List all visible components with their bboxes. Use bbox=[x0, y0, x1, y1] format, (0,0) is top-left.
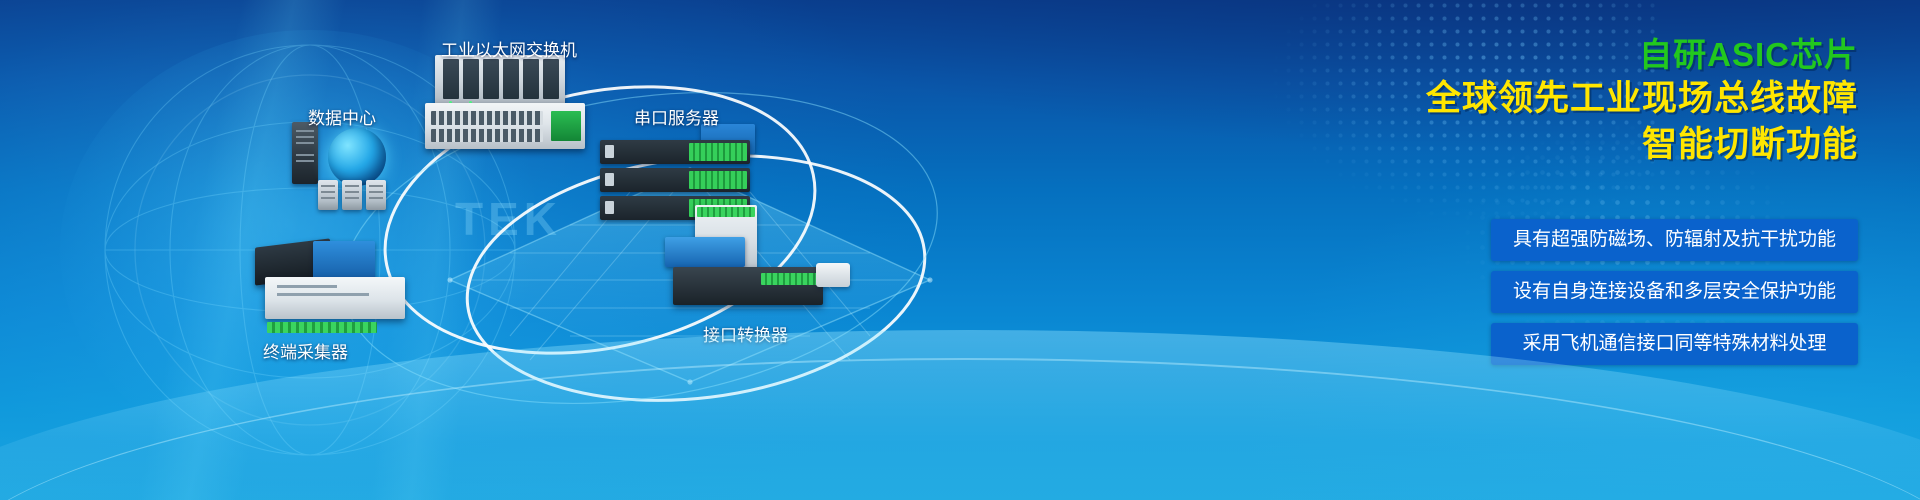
switch-module bbox=[523, 59, 539, 99]
headline-line-2: 全球领先工业现场总线故障 bbox=[1238, 76, 1858, 122]
terminal-block bbox=[689, 143, 747, 161]
bottom-arc-line bbox=[0, 358, 1920, 500]
switch-port-row bbox=[431, 129, 543, 142]
product-banner: TEK 工业以太网交换机 bbox=[0, 0, 1920, 500]
collector-white-unit bbox=[265, 277, 405, 319]
switch-terminal-block bbox=[551, 111, 581, 141]
terminal-block bbox=[697, 207, 755, 217]
device-interface-converter bbox=[665, 205, 850, 330]
label-serial-server: 串口服务器 bbox=[634, 104, 719, 129]
collector-terminal-block bbox=[267, 322, 377, 333]
feature-list: 具有超强防磁场、防辐射及抗干扰功能 设有自身连接设备和多层安全保护功能 采用飞机… bbox=[1491, 219, 1858, 365]
data-center-server bbox=[342, 180, 362, 210]
switch-module bbox=[483, 59, 499, 99]
rj45-port bbox=[605, 201, 614, 214]
data-center-server bbox=[366, 180, 386, 210]
switch-port-row bbox=[431, 111, 543, 125]
converter-dark-unit bbox=[673, 267, 823, 305]
switch-chassis-bottom bbox=[425, 103, 585, 149]
converter-blue-unit bbox=[665, 237, 745, 267]
device-ethernet-switch bbox=[425, 55, 585, 150]
switch-chassis-top bbox=[435, 55, 565, 107]
switch-module bbox=[543, 59, 559, 99]
headline-block: 自研ASIC芯片 全球领先工业现场总线故障 智能切断功能 bbox=[1238, 34, 1858, 167]
feature-item-2[interactable]: 设有自身连接设备和多层安全保护功能 bbox=[1491, 271, 1858, 313]
globe-icon bbox=[328, 128, 386, 186]
rj45-port bbox=[605, 145, 614, 158]
data-center-tower bbox=[292, 122, 318, 184]
terminal-block bbox=[761, 273, 817, 285]
label-data-center: 数据中心 bbox=[308, 104, 376, 129]
serial-server-unit bbox=[600, 140, 750, 164]
rj45-port bbox=[605, 173, 614, 186]
terminal-block bbox=[689, 171, 747, 189]
feature-item-3[interactable]: 采用飞机通信接口同等特殊材料处理 bbox=[1491, 323, 1858, 365]
device-data-center bbox=[292, 122, 402, 210]
device-terminal-collector bbox=[255, 243, 420, 328]
switch-module bbox=[463, 59, 479, 99]
switch-module bbox=[443, 59, 459, 99]
label-ethernet-switch: 工业以太网交换机 bbox=[441, 36, 577, 61]
label-interface-converter: 接口转换器 bbox=[703, 321, 788, 346]
switch-module bbox=[503, 59, 519, 99]
converter-connector bbox=[816, 263, 850, 287]
feature-item-1[interactable]: 具有超强防磁场、防辐射及抗干扰功能 bbox=[1491, 219, 1858, 261]
serial-server-unit bbox=[600, 168, 750, 192]
data-center-server bbox=[318, 180, 338, 210]
headline-line-3: 智能切断功能 bbox=[1238, 122, 1858, 168]
label-terminal-collector: 终端采集器 bbox=[263, 338, 348, 363]
headline-line-1: 自研ASIC芯片 bbox=[1238, 34, 1858, 76]
